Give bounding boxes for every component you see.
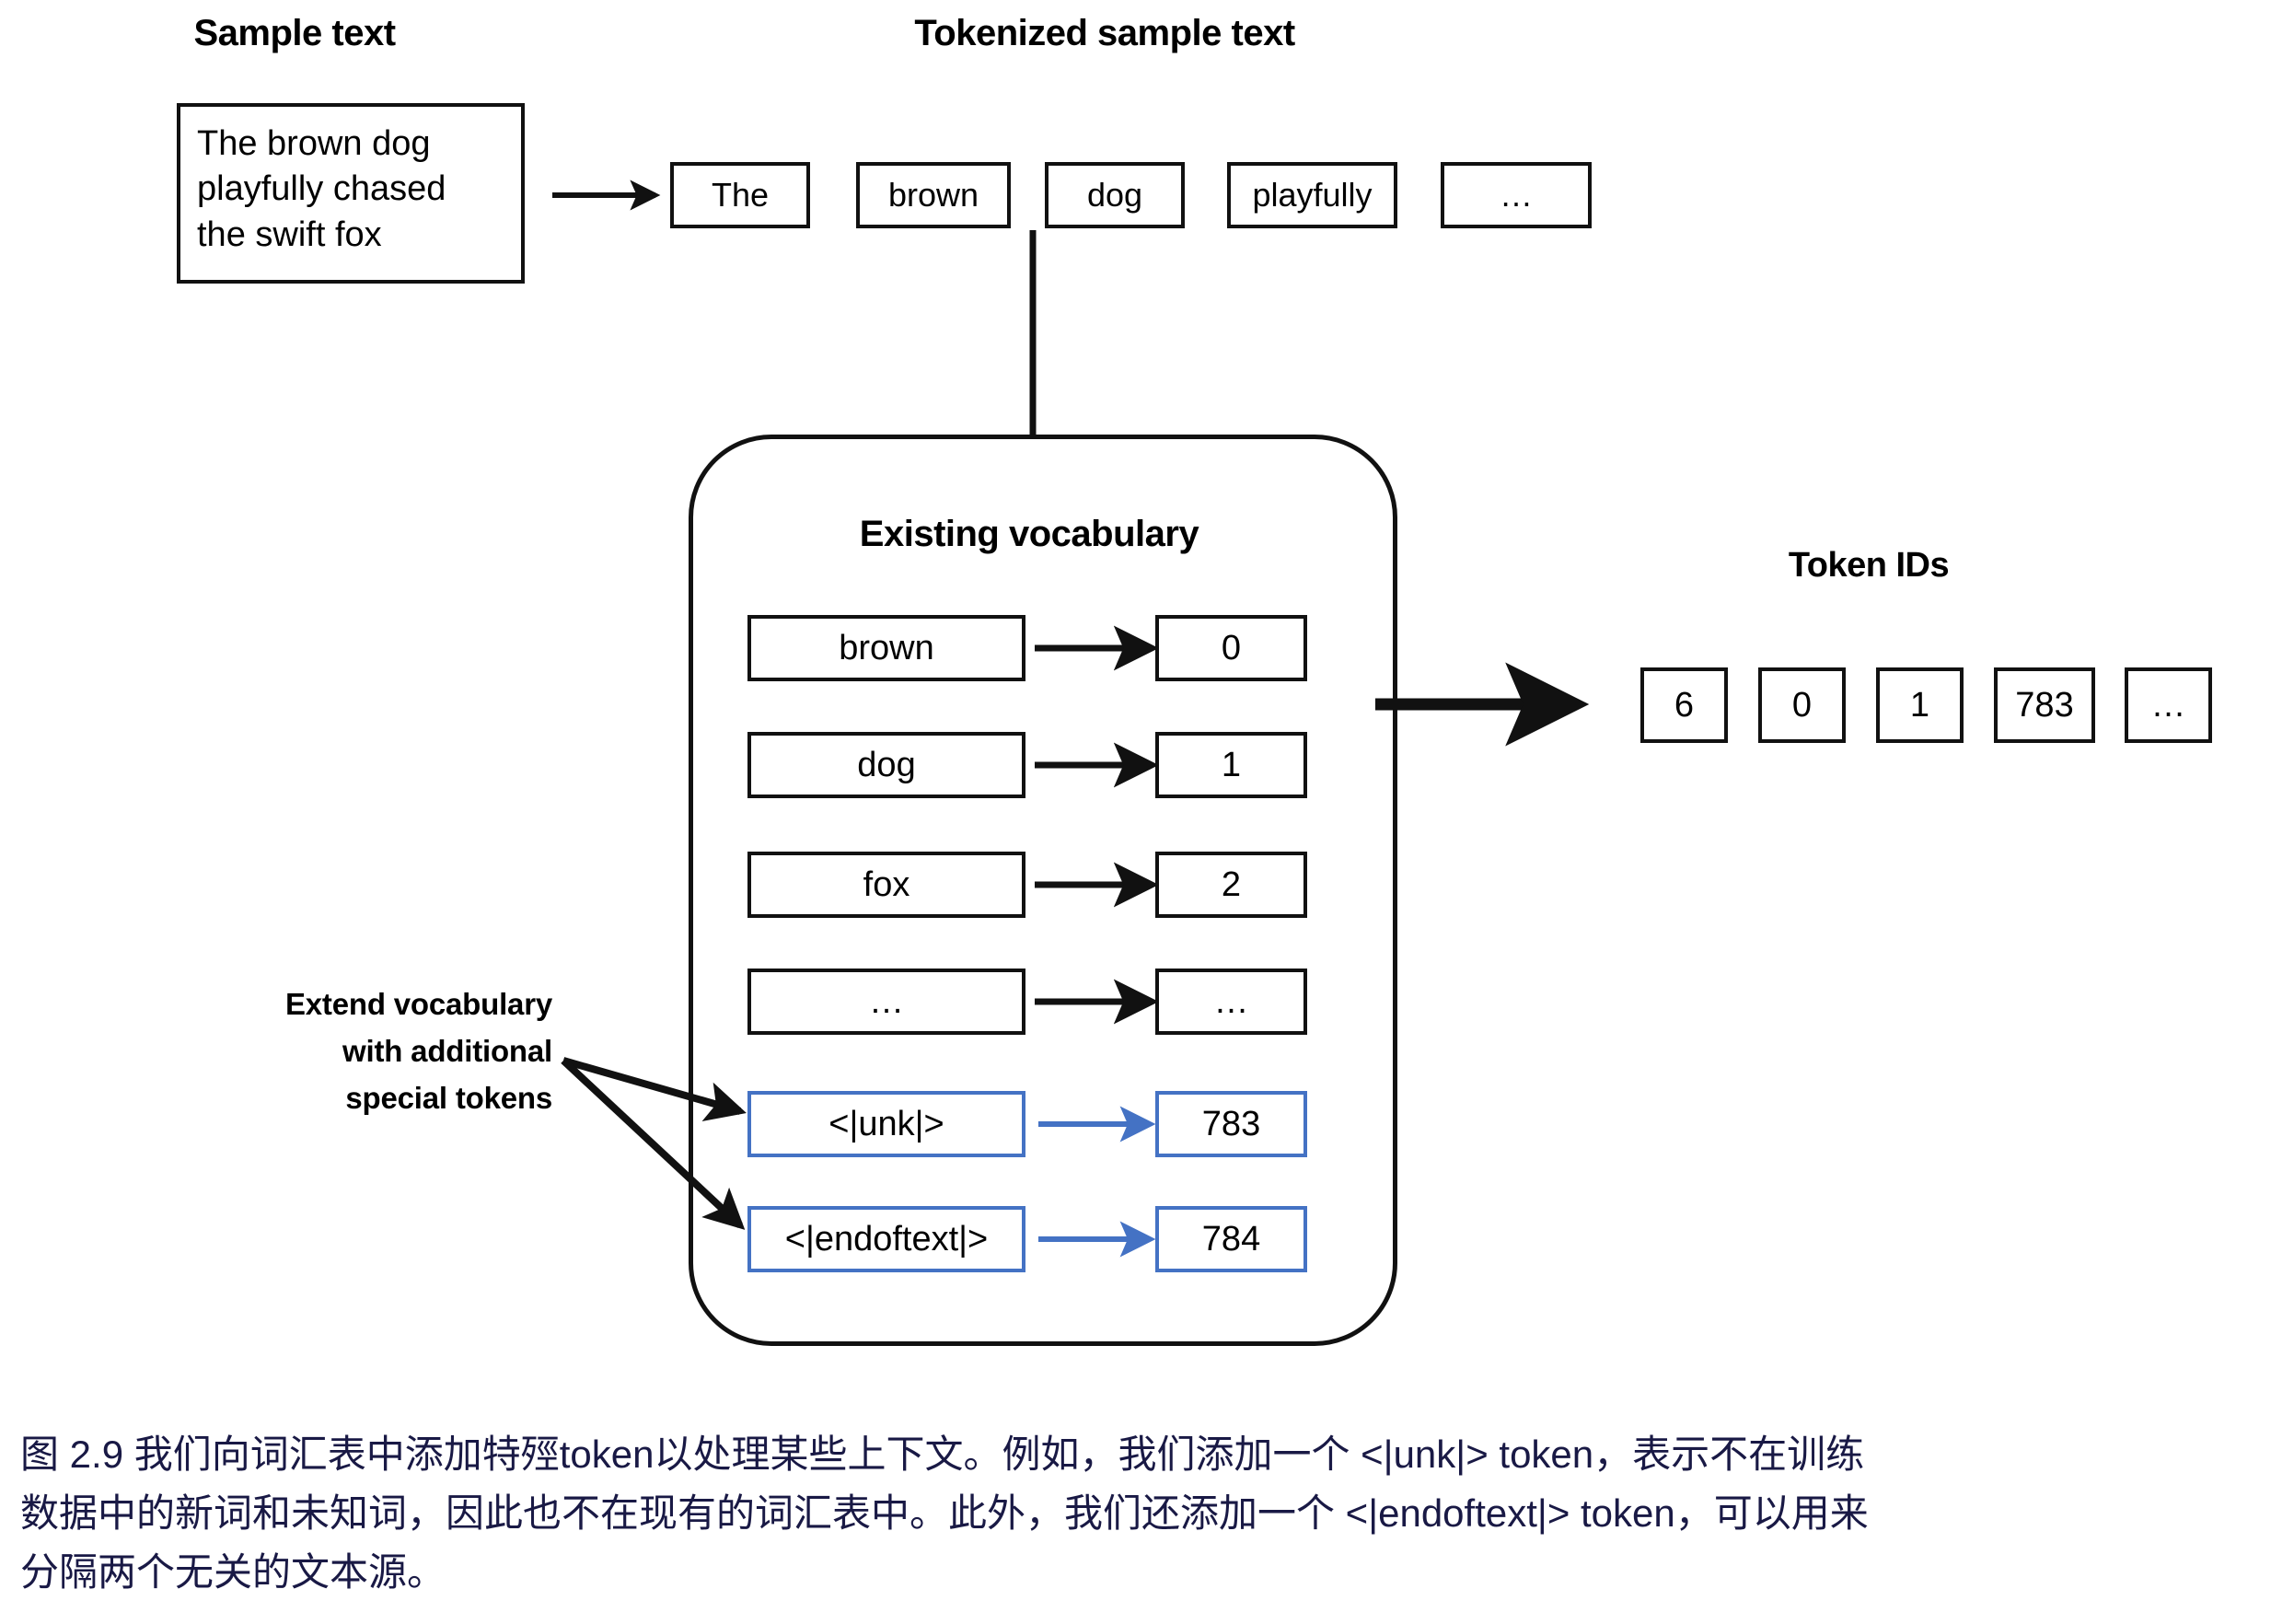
- figure-caption: 图 2.9 我们向词汇表中添加特殌token以处理某些上下文。例如，我们添加一个…: [20, 1425, 1869, 1601]
- vocab-id-label: 784: [1202, 1220, 1260, 1259]
- vocab-word-label: <|endoftext|>: [785, 1220, 988, 1259]
- vocab-id-box-783: 783: [1155, 1091, 1307, 1157]
- sample-text-line: the swift fox: [197, 213, 446, 258]
- vocab-id-label: 1: [1222, 746, 1241, 785]
- vocab-word-box-dog: dog: [747, 732, 1025, 798]
- token-box-dog: dog: [1045, 162, 1185, 228]
- token-box-brown: brown: [856, 162, 1011, 228]
- token-id-value: 783: [2015, 686, 2073, 725]
- annotation-line: with additional: [230, 1027, 552, 1074]
- token-id-box-0: 0: [1758, 667, 1846, 743]
- token-label: …: [1500, 176, 1533, 215]
- token-label: dog: [1087, 176, 1142, 215]
- vocab-word-box-fox: fox: [747, 852, 1025, 918]
- vocab-id-label: …: [1214, 982, 1249, 1022]
- token-label: brown: [888, 176, 979, 215]
- vocab-word-box-endoftext: <|endoftext|>: [747, 1206, 1025, 1272]
- token-box-playfully: playfully: [1227, 162, 1397, 228]
- token-id-box-ellipsis: …: [2125, 667, 2212, 743]
- vocab-id-box-784: 784: [1155, 1206, 1307, 1272]
- vocab-word-box-brown: brown: [747, 615, 1025, 681]
- token-label: playfully: [1252, 176, 1372, 215]
- annotation-line: Extend vocabulary: [230, 980, 552, 1027]
- sample-text-line: playfully chased: [197, 167, 446, 212]
- vocab-word-label: brown: [839, 629, 934, 668]
- vocab-id-label: 783: [1202, 1105, 1260, 1144]
- heading-tokenized-sample-text: Tokenized sample text: [810, 13, 1399, 54]
- token-id-value: 1: [1910, 686, 1929, 725]
- token-label: The: [712, 176, 769, 215]
- annotation-line: special tokens: [230, 1074, 552, 1121]
- token-id-box-1: 1: [1876, 667, 1964, 743]
- sample-text-content: The brown dog playfully chased the swift…: [180, 107, 462, 258]
- heading-existing-vocabulary: Existing vocabulary: [762, 514, 1296, 555]
- vocab-word-label: dog: [857, 746, 915, 785]
- vocab-word-label: <|unk|>: [828, 1105, 944, 1144]
- vocab-id-label: 0: [1222, 629, 1241, 668]
- token-id-value: 0: [1792, 686, 1812, 725]
- heading-sample-text: Sample text: [138, 13, 451, 54]
- vocab-word-label: …: [869, 982, 904, 1022]
- vocab-word-box-ellipsis: …: [747, 969, 1025, 1035]
- sample-text-box: The brown dog playfully chased the swift…: [177, 103, 525, 284]
- extend-vocabulary-annotation: Extend vocabulary with additional specia…: [230, 980, 552, 1121]
- token-id-value: …: [2151, 686, 2186, 725]
- vocab-id-label: 2: [1222, 865, 1241, 905]
- figure-canvas: Sample text Tokenized sample text Existi…: [0, 0, 2294, 1624]
- caption-line: 数据中的新词和未知词，因此也不在现有的词汇表中。此外，我们还添加一个 <|end…: [20, 1484, 1869, 1543]
- vocab-word-label: fox: [863, 865, 910, 905]
- token-id-box-6: 6: [1640, 667, 1728, 743]
- vocab-id-box-1: 1: [1155, 732, 1307, 798]
- heading-token-ids: Token IDs: [1685, 546, 2053, 586]
- vocab-id-box-ellipsis: …: [1155, 969, 1307, 1035]
- vocab-id-box-2: 2: [1155, 852, 1307, 918]
- token-box-the: The: [670, 162, 810, 228]
- token-id-value: 6: [1674, 686, 1694, 725]
- caption-line: 分隔两个无关的文本源。: [20, 1543, 1869, 1602]
- sample-text-line: The brown dog: [197, 122, 446, 167]
- token-id-box-783: 783: [1994, 667, 2095, 743]
- vocab-word-box-unk: <|unk|>: [747, 1091, 1025, 1157]
- caption-line: 图 2.9 我们向词汇表中添加特殌token以处理某些上下文。例如，我们添加一个…: [20, 1425, 1869, 1484]
- token-box-ellipsis: …: [1441, 162, 1592, 228]
- vocab-id-box-0: 0: [1155, 615, 1307, 681]
